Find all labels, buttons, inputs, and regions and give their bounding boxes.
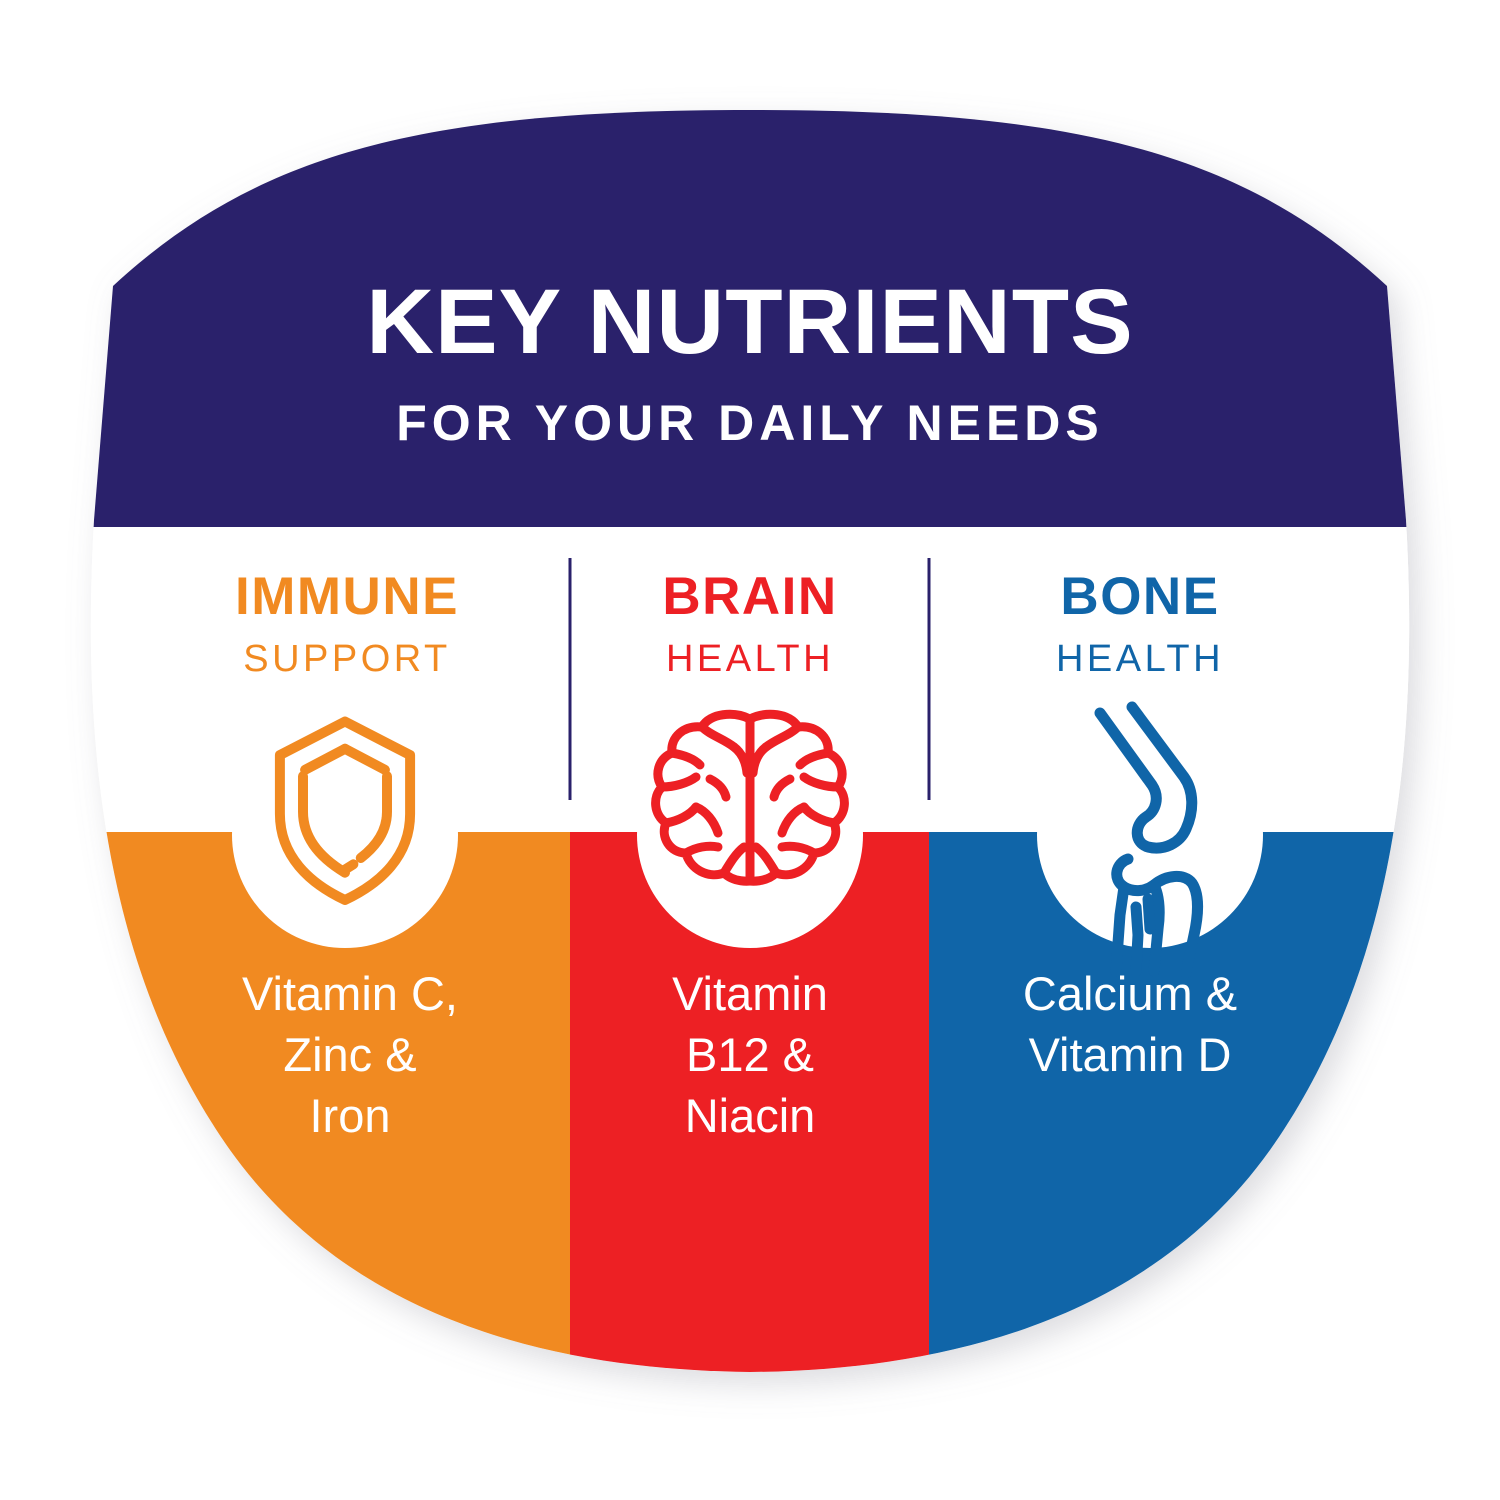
nutrients-immune-line-1: Vitamin C, bbox=[150, 963, 550, 1024]
nutrients-immune-line-3: Iron bbox=[150, 1085, 550, 1146]
nutrients-brain-line-2: B12 & bbox=[570, 1024, 930, 1085]
nutrients-bone: Calcium & Vitamin D bbox=[930, 963, 1330, 1085]
column-subtitle-bone: HEALTH bbox=[925, 640, 1355, 678]
page-title: KEY NUTRIENTS bbox=[0, 276, 1500, 368]
band-bone bbox=[929, 832, 1500, 1500]
nutrients-bone-line-2: Vitamin D bbox=[930, 1024, 1330, 1085]
column-title-immune: IMMUNE bbox=[132, 570, 562, 623]
nutrients-bone-line-1: Calcium & bbox=[930, 963, 1330, 1024]
header-block: KEY NUTRIENTS FOR YOUR DAILY NEEDS bbox=[0, 276, 1500, 448]
nutrients-brain: Vitamin B12 & Niacin bbox=[570, 963, 930, 1146]
band-brain bbox=[570, 832, 929, 1500]
column-title-brain: BRAIN bbox=[535, 570, 965, 623]
color-bands bbox=[0, 832, 1500, 1500]
nutrients-brain-line-3: Niacin bbox=[570, 1085, 930, 1146]
column-subtitle-immune: SUPPORT bbox=[132, 640, 562, 678]
column-subtitle-brain: HEALTH bbox=[535, 640, 965, 678]
nutrients-immune-line-2: Zinc & bbox=[150, 1024, 550, 1085]
shield-graphic bbox=[0, 0, 1500, 1500]
column-heading-bone: BONE HEALTH bbox=[925, 570, 1355, 678]
column-title-bone: BONE bbox=[925, 570, 1355, 623]
infographic-canvas: KEY NUTRIENTS FOR YOUR DAILY NEEDS IMMUN… bbox=[0, 0, 1500, 1500]
page-subtitle: FOR YOUR DAILY NEEDS bbox=[0, 398, 1500, 448]
column-heading-brain: BRAIN HEALTH bbox=[535, 570, 965, 678]
nutrients-brain-line-1: Vitamin bbox=[570, 963, 930, 1024]
nutrients-immune: Vitamin C, Zinc & Iron bbox=[150, 963, 550, 1146]
column-heading-immune: IMMUNE SUPPORT bbox=[132, 570, 562, 678]
band-immune bbox=[0, 832, 570, 1500]
